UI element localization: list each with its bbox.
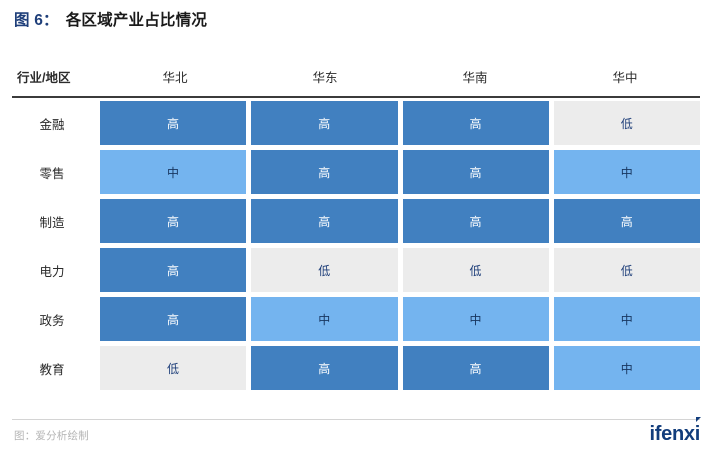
- matrix-cell[interactable]: 高: [403, 199, 549, 243]
- matrix-cell[interactable]: 高: [251, 101, 397, 145]
- matrix-cell[interactable]: 高: [251, 199, 397, 243]
- matrix-cell[interactable]: 高: [554, 199, 700, 243]
- matrix-cell[interactable]: 高: [403, 346, 549, 390]
- footer-divider: [12, 419, 700, 420]
- matrix-cell[interactable]: 低: [554, 248, 700, 292]
- matrix-cell[interactable]: 高: [100, 297, 246, 341]
- matrix-cell[interactable]: 高: [100, 101, 246, 145]
- column-header-huabei: 华北: [100, 60, 250, 96]
- table-row: 政务 高 中 中 中: [12, 297, 700, 341]
- table-row: 金融 高 高 高 低: [12, 101, 700, 145]
- matrix-cell[interactable]: 高: [251, 346, 397, 390]
- table-corner-header: 行业/地区: [12, 60, 100, 96]
- matrix-cell[interactable]: 中: [554, 150, 700, 194]
- brand-text: ifenx: [650, 423, 695, 445]
- column-header-huadong: 华东: [250, 60, 400, 96]
- row-cells: 高 高 高 低: [100, 101, 700, 145]
- matrix-cell[interactable]: 中: [554, 297, 700, 341]
- row-header-zhengwu: 政务: [12, 310, 100, 329]
- row-header-zhizao: 制造: [12, 212, 100, 231]
- brand-tick-icon: i: [695, 424, 700, 444]
- row-header-dianli: 电力: [12, 261, 100, 280]
- matrix-cell[interactable]: 中: [554, 346, 700, 390]
- row-header-jiaoyu: 教育: [12, 359, 100, 378]
- matrix-cell[interactable]: 低: [100, 346, 246, 390]
- table-body: 金融 高 高 高 低 零售 中 高 高 中 制造 高 高 高 高: [12, 98, 700, 390]
- page-title: 图 6：各区域产业占比情况: [14, 8, 207, 30]
- matrix-cell[interactable]: 高: [403, 101, 549, 145]
- column-header-huanan: 华南: [400, 60, 550, 96]
- matrix-cell[interactable]: 中: [100, 150, 246, 194]
- matrix-cell[interactable]: 中: [403, 297, 549, 341]
- table-row: 教育 低 高 高 中: [12, 346, 700, 390]
- ifenxi-logo: ifenxi: [650, 424, 700, 444]
- table-row: 制造 高 高 高 高: [12, 199, 700, 243]
- table-header-row: 行业/地区 华北 华东 华南 华中: [12, 60, 700, 96]
- source-note: 图：爱分析绘制: [14, 428, 89, 443]
- row-cells: 高 高 高 高: [100, 199, 700, 243]
- matrix-cell[interactable]: 高: [403, 150, 549, 194]
- row-cells: 低 高 高 中: [100, 346, 700, 390]
- matrix-cell[interactable]: 低: [403, 248, 549, 292]
- figure-title-text: 各区域产业占比情况: [66, 12, 207, 29]
- matrix-cell[interactable]: 高: [100, 248, 246, 292]
- column-header-huazhong: 华中: [550, 60, 700, 96]
- figure-number: 图 6：: [14, 12, 59, 29]
- row-cells: 高 中 中 中: [100, 297, 700, 341]
- row-cells: 中 高 高 中: [100, 150, 700, 194]
- table-row: 零售 中 高 高 中: [12, 150, 700, 194]
- matrix-cell[interactable]: 低: [554, 101, 700, 145]
- matrix-cell[interactable]: 高: [100, 199, 246, 243]
- row-header-jinrong: 金融: [12, 114, 100, 133]
- row-header-lingshou: 零售: [12, 163, 100, 182]
- matrix-cell[interactable]: 中: [251, 297, 397, 341]
- table-row: 电力 高 低 低 低: [12, 248, 700, 292]
- row-cells: 高 低 低 低: [100, 248, 700, 292]
- matrix-cell[interactable]: 高: [251, 150, 397, 194]
- industry-region-matrix: 行业/地区 华北 华东 华南 华中 金融 高 高 高 低 零售 中 高 高 中: [12, 60, 700, 390]
- matrix-cell[interactable]: 低: [251, 248, 397, 292]
